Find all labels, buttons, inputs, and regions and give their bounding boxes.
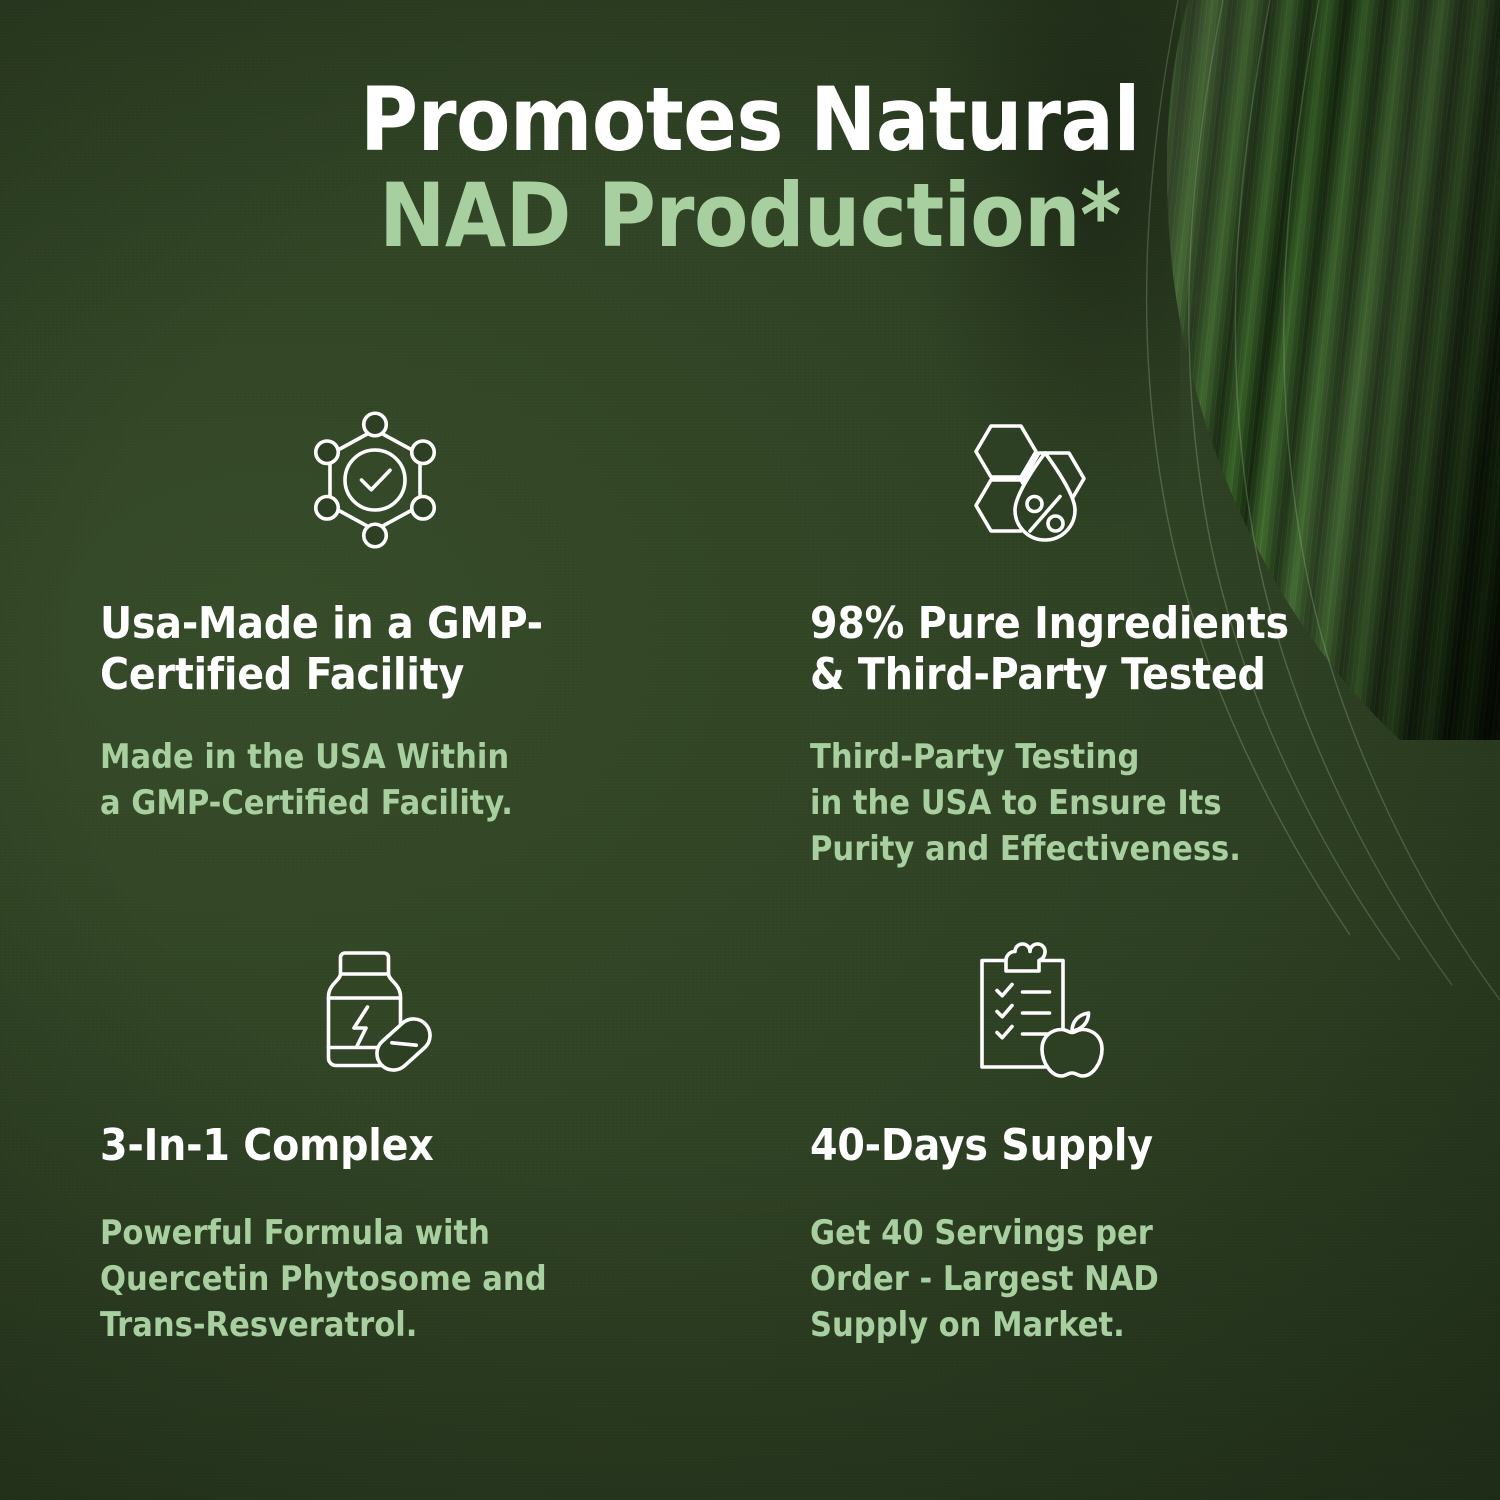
feature-3in1-complex: 3-In-1 Complex Powerful Formula with Que… bbox=[100, 930, 810, 1460]
feature-grid: Usa-Made in a GMP- Certified Facility Ma… bbox=[0, 400, 1500, 1460]
feature-title: 98% Pure Ingredients & Third-Party Teste… bbox=[810, 598, 1410, 701]
feature-description: Powerful Formula with Quercetin Phytosom… bbox=[100, 1211, 700, 1349]
feature-pure-ingredients: 98% Pure Ingredients & Third-Party Teste… bbox=[810, 400, 1500, 930]
hexagon-network-check-icon bbox=[100, 400, 810, 560]
feature-description: Made in the USA Within a GMP-Certified F… bbox=[100, 735, 700, 827]
page-headline: Promotes Natural NAD Production* bbox=[0, 72, 1500, 264]
feature-title: 3-In-1 Complex bbox=[100, 1120, 700, 1171]
honeycomb-droplet-percent-icon bbox=[810, 400, 1500, 560]
feature-description: Third-Party Testing in the USA to Ensure… bbox=[810, 735, 1410, 873]
headline-line-1: Promotes Natural bbox=[0, 72, 1500, 168]
clipboard-checklist-apple-icon bbox=[810, 930, 1500, 1090]
supplement-bottle-capsule-icon bbox=[100, 930, 810, 1090]
feature-usa-made: Usa-Made in a GMP- Certified Facility Ma… bbox=[100, 400, 810, 930]
feature-title: Usa-Made in a GMP- Certified Facility bbox=[100, 598, 700, 701]
feature-title: 40-Days Supply bbox=[810, 1120, 1410, 1171]
feature-description: Get 40 Servings per Order - Largest NAD … bbox=[810, 1211, 1410, 1349]
headline-line-2: NAD Production* bbox=[0, 168, 1500, 264]
feature-40-days-supply: 40-Days Supply Get 40 Servings per Order… bbox=[810, 930, 1500, 1460]
